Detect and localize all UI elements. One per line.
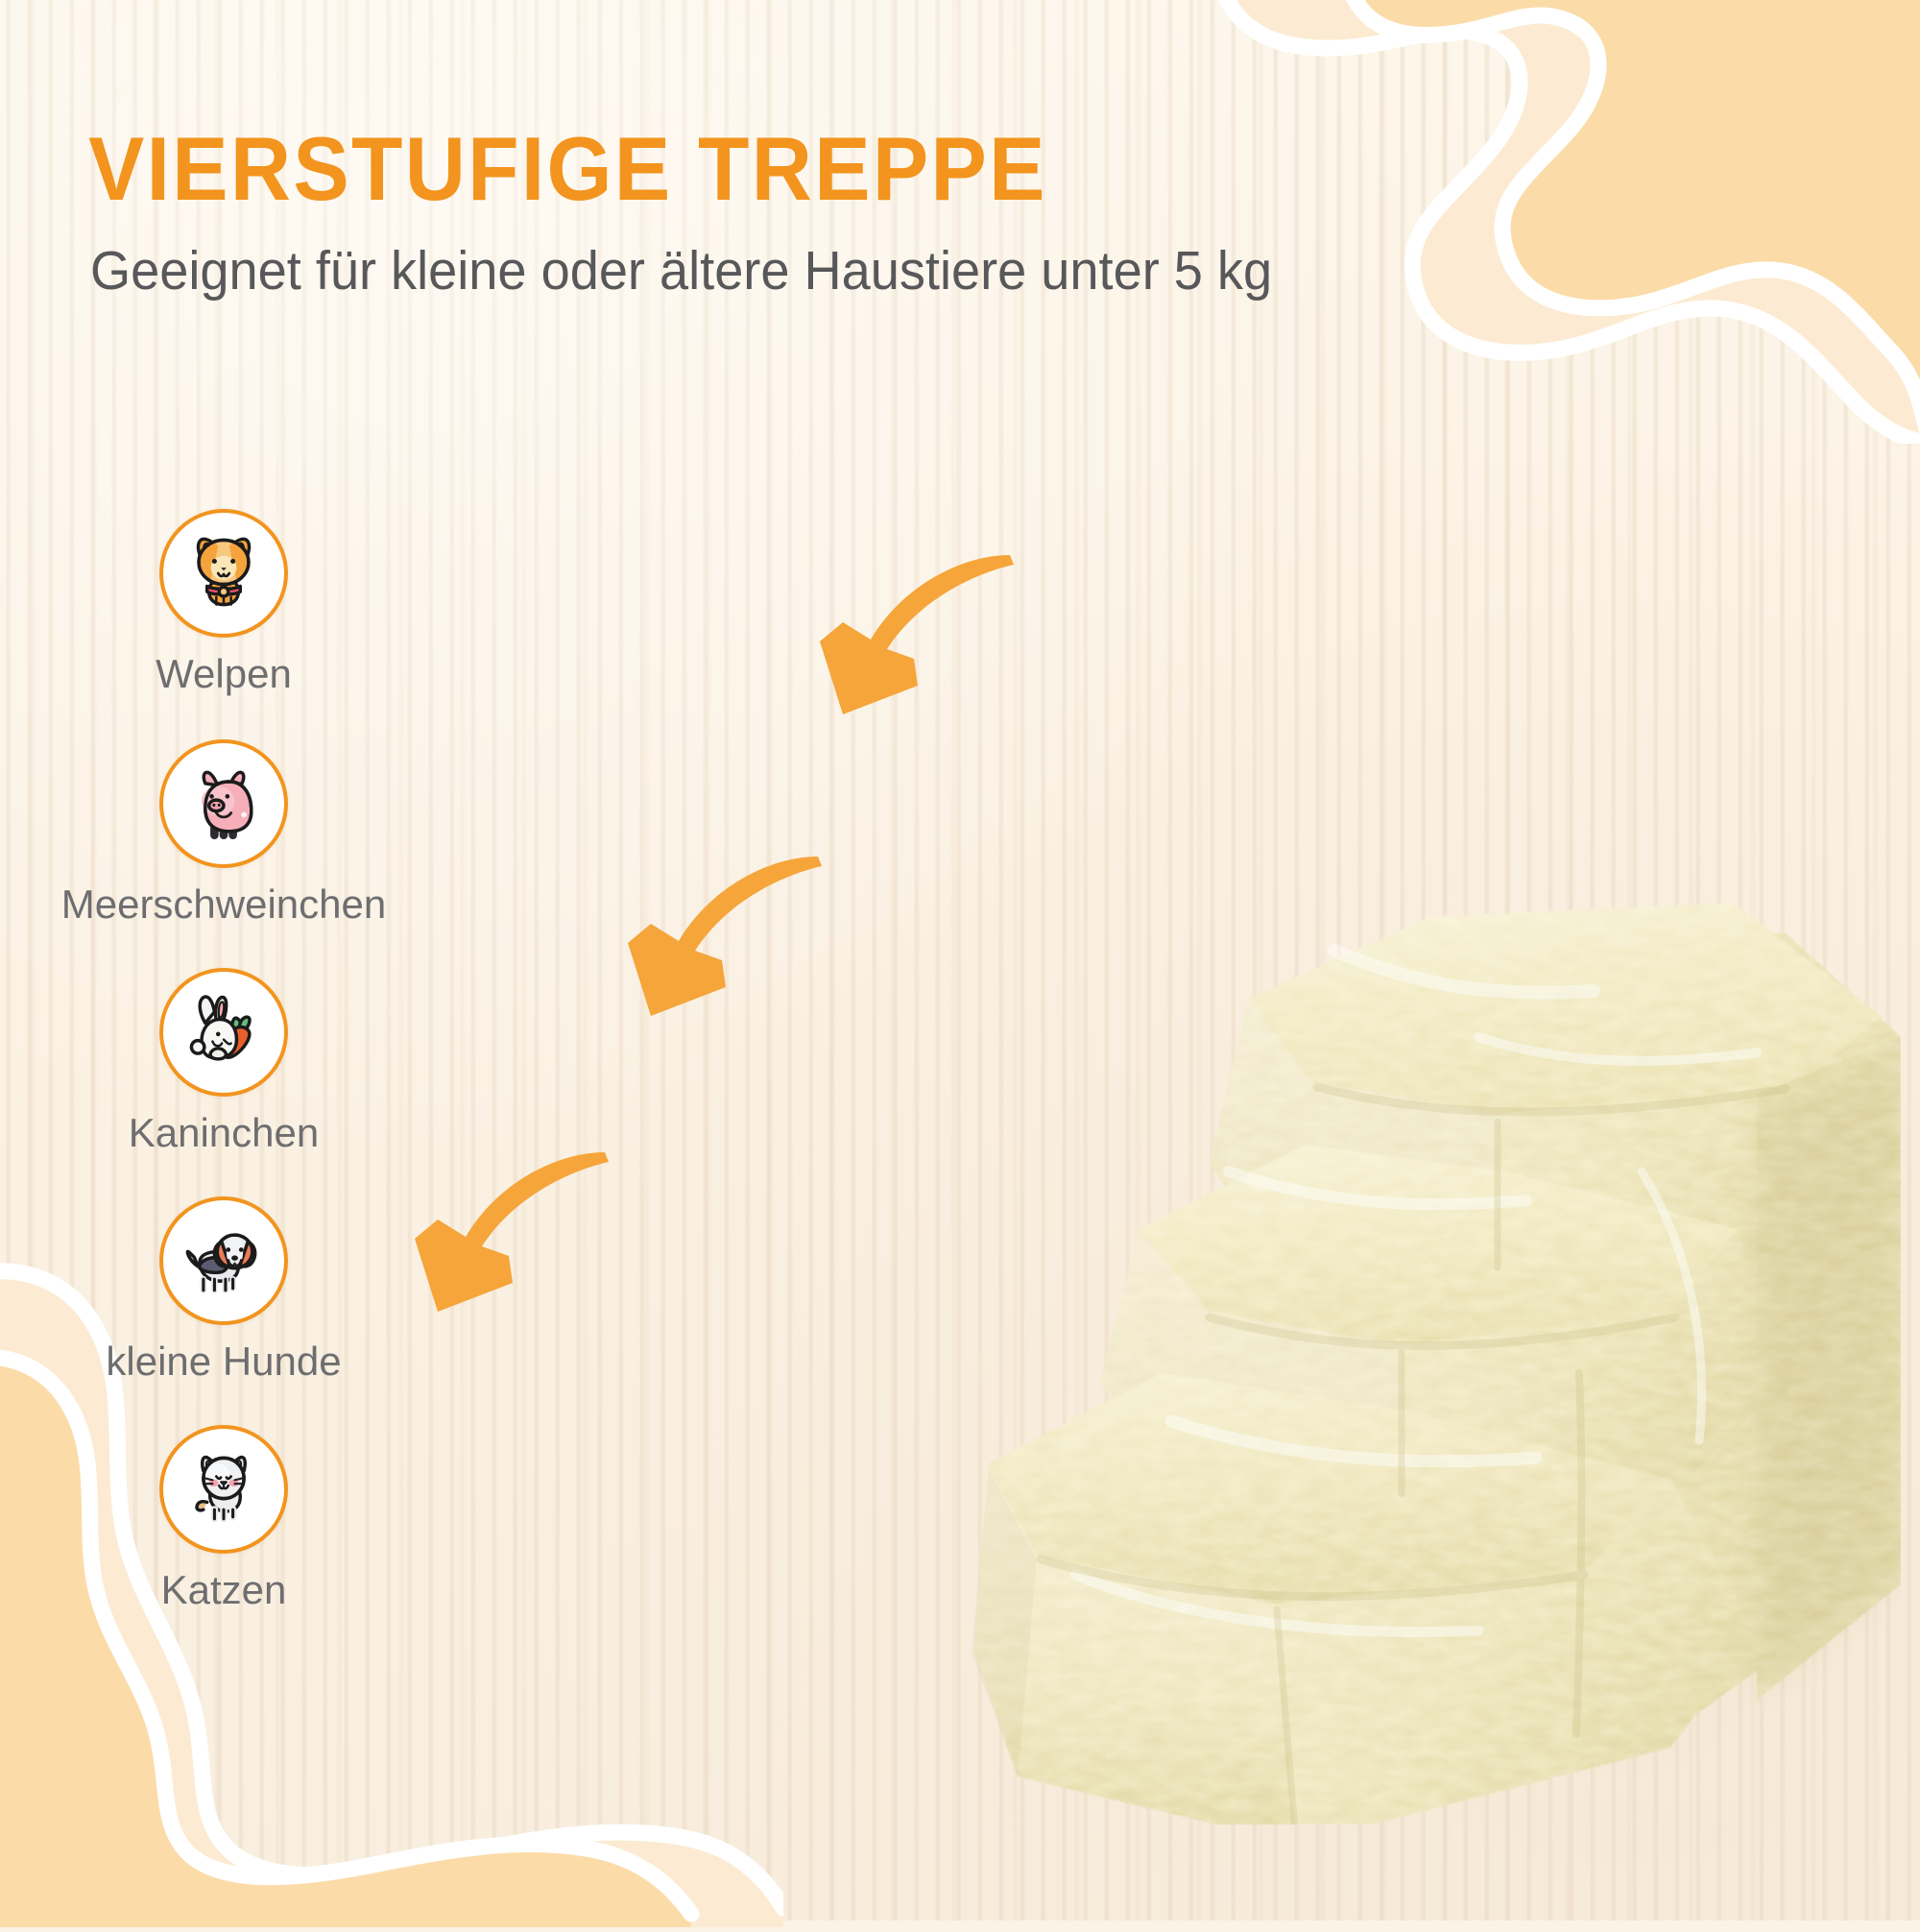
list-item-label: Kaninchen bbox=[129, 1110, 320, 1156]
page-title: VIERSTUFIGE TREPPE bbox=[88, 123, 1247, 215]
list-item-label: Meerschweinchen bbox=[61, 881, 387, 928]
small-dog-icon bbox=[159, 1196, 288, 1325]
page-subtitle: Geeignet für kleine oder ältere Haustier… bbox=[90, 242, 1272, 302]
product-image-plush-pet-stairs bbox=[538, 499, 1901, 1824]
list-item-label: kleine Hunde bbox=[106, 1339, 341, 1385]
rabbit-icon bbox=[159, 968, 288, 1097]
header: VIERSTUFIGE TREPPE Geeignet für kleine o… bbox=[88, 123, 1334, 301]
list-item-label: Katzen bbox=[161, 1567, 287, 1613]
guinea-pig-icon bbox=[159, 739, 288, 868]
puppy-icon bbox=[159, 509, 288, 638]
cat-icon bbox=[159, 1425, 288, 1554]
list-item-label: Welpen bbox=[156, 651, 292, 697]
